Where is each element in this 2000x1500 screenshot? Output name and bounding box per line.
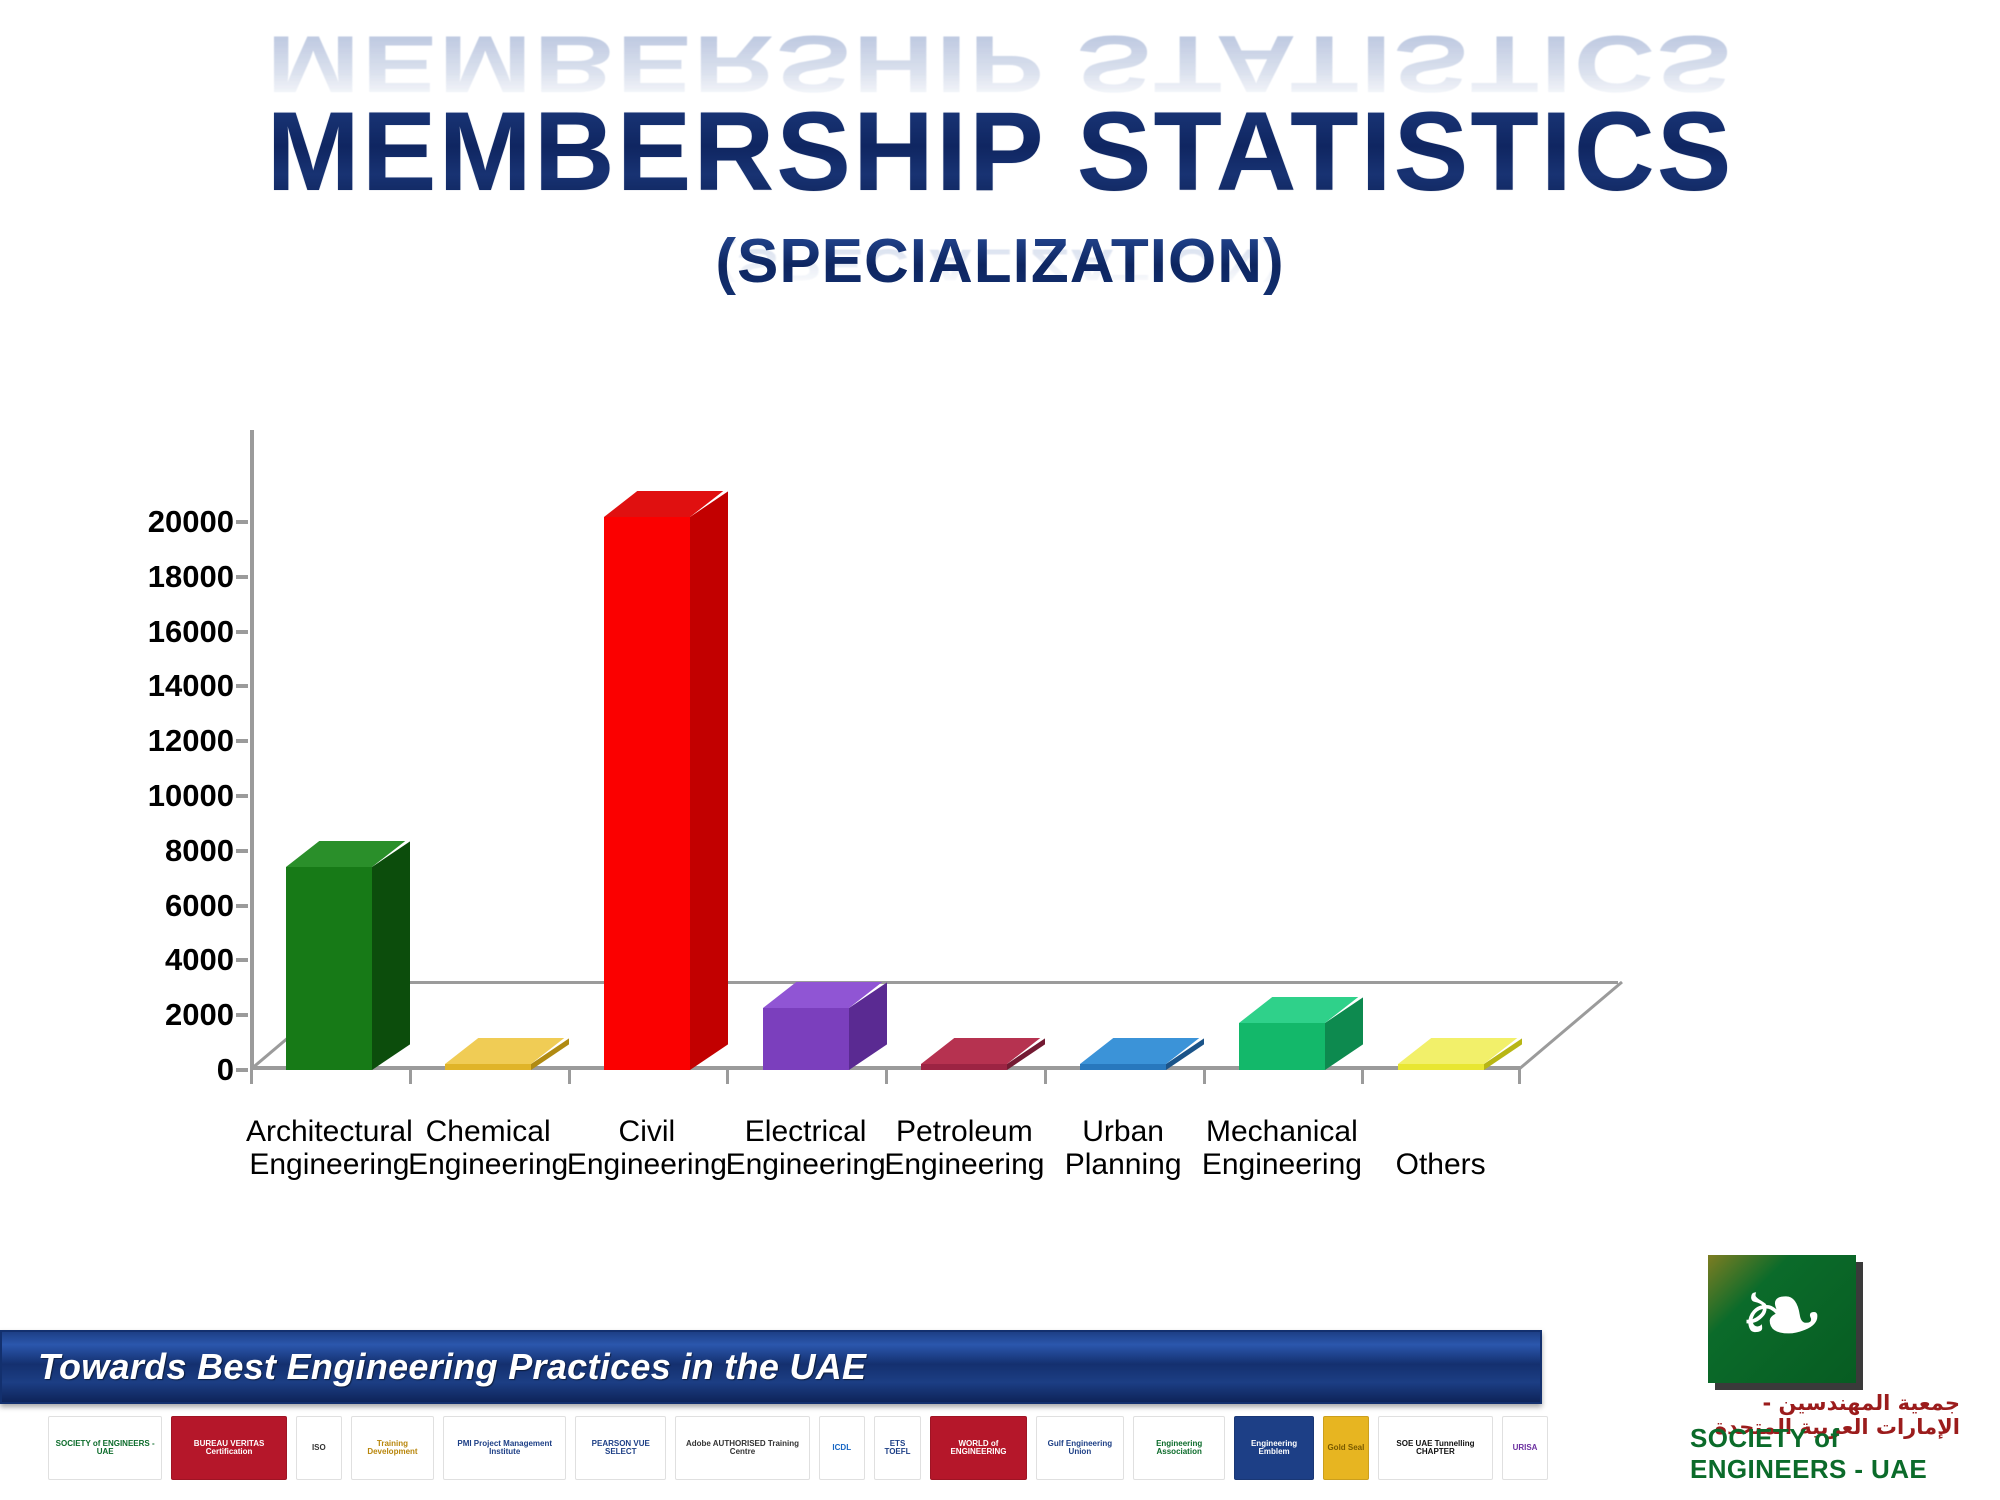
partner-logo-label: Gold Seal xyxy=(1327,1444,1364,1452)
y-tick-label: 16000 xyxy=(122,614,234,650)
soe-name-english: SOCIETY of ENGINEERS - UAE xyxy=(1690,1423,1960,1485)
bar-top-face xyxy=(1398,1038,1517,1064)
partner-logo-blue-emblem: Engineering Emblem xyxy=(1234,1416,1314,1480)
y-tick-mark xyxy=(236,794,248,798)
y-tick-mark xyxy=(236,1013,248,1017)
bar-front-face xyxy=(921,1064,1007,1070)
partner-logo-gulf-engineering-union: Gulf Engineering Union xyxy=(1036,1416,1124,1480)
partner-logo-pmi-rep: PMI Project Management Institute xyxy=(443,1416,566,1480)
soe-logo-mark: ❧ xyxy=(1708,1255,1856,1383)
partner-logo-label: Gulf Engineering Union xyxy=(1040,1440,1120,1457)
title-reflection-text: MEMBERSHIP STATISTICS xyxy=(0,23,2000,104)
page-title-text: MEMBERSHIP STATISTICS xyxy=(267,96,1734,208)
y-axis-line xyxy=(250,430,254,1070)
x-axis-label-line: Mechanical xyxy=(1182,1115,1382,1149)
bar xyxy=(286,867,372,1070)
footer-banner-text: Towards Best Engineering Practices in th… xyxy=(2,1346,866,1388)
bar-front-face xyxy=(286,867,372,1070)
partner-logo-label: SOCIETY of ENGINEERS - UAE xyxy=(52,1440,158,1457)
page-subtitle: (SPECIALIZATION) xyxy=(0,226,2000,297)
partner-logo-label: Adobe AUTHORISED Training Centre xyxy=(679,1440,806,1457)
bar xyxy=(763,1008,849,1070)
footer-banner: Towards Best Engineering Practices in th… xyxy=(0,1330,1542,1404)
bar xyxy=(1398,1064,1484,1070)
partner-logo-label: ISO xyxy=(312,1444,326,1452)
bar-front-face xyxy=(604,517,690,1070)
partner-logo-bureau-veritas: BUREAU VERITAS Certification xyxy=(171,1416,287,1480)
partner-logo-label: Engineering Emblem xyxy=(1238,1440,1310,1457)
y-tick-label: 4000 xyxy=(122,942,234,978)
y-tick-label: 18000 xyxy=(122,559,234,595)
y-tick-label: 2000 xyxy=(122,997,234,1033)
partner-logo-iso-seal: ISO xyxy=(296,1416,342,1480)
y-tick-label: 20000 xyxy=(122,504,234,540)
bar-front-face xyxy=(1398,1064,1484,1070)
partner-logo-label: PMI Project Management Institute xyxy=(447,1440,562,1457)
partner-logo-label: Training Development xyxy=(355,1440,430,1457)
y-tick-label: 6000 xyxy=(122,888,234,924)
axis-floor-back-edge xyxy=(348,981,1618,984)
y-tick-label: 0 xyxy=(122,1052,234,1088)
bar-side-face xyxy=(372,842,410,1070)
bar xyxy=(445,1064,531,1070)
partner-logo-soe-uae: SOCIETY of ENGINEERS - UAE xyxy=(48,1416,162,1480)
y-tick-mark xyxy=(236,575,248,579)
y-tick-label: 12000 xyxy=(122,723,234,759)
partner-logo-training-development: Training Development xyxy=(351,1416,434,1480)
partner-logo-label: URISA xyxy=(1513,1444,1538,1452)
partner-logo-label: BUREAU VERITAS Certification xyxy=(175,1440,283,1457)
x-axis-label: Others xyxy=(1341,1148,1541,1182)
x-tick-mark xyxy=(568,1068,571,1084)
page-subtitle-text: (SPECIALIZATION) xyxy=(715,226,1284,297)
bar xyxy=(921,1064,1007,1070)
partner-logo-label: Engineering Association xyxy=(1137,1440,1221,1457)
x-tick-mark xyxy=(250,1068,253,1084)
bar-top-face xyxy=(921,1038,1040,1064)
membership-bar-chart: 2000018000160001400012000100008000600040… xyxy=(250,430,1780,1070)
bar-front-face xyxy=(763,1008,849,1070)
partner-logo-gold-seal: Gold Seal xyxy=(1323,1416,1369,1480)
partner-logo-label: ICDL xyxy=(832,1444,851,1452)
partner-logo-label: ETS TOEFL xyxy=(878,1440,917,1457)
partner-logo-pearson-vue: PEARSON VUE SELECT xyxy=(575,1416,666,1480)
bar xyxy=(604,517,690,1070)
partner-logo-label: WORLD of ENGINEERING xyxy=(934,1440,1022,1457)
y-tick-mark xyxy=(236,684,248,688)
x-tick-mark xyxy=(409,1068,412,1084)
y-tick-label: 14000 xyxy=(122,668,234,704)
bar-front-face xyxy=(1239,1023,1325,1070)
y-tick-mark xyxy=(236,849,248,853)
soe-swirl-icon: ❧ xyxy=(1738,1263,1825,1367)
bar xyxy=(1239,1023,1325,1070)
partner-logo-urisa: URISA xyxy=(1502,1416,1548,1480)
x-tick-mark xyxy=(1044,1068,1047,1084)
bar-top-face xyxy=(1080,1038,1199,1064)
bar-front-face xyxy=(445,1064,531,1070)
y-tick-mark xyxy=(236,630,248,634)
axis-floor-right-edge xyxy=(1518,980,1626,1070)
x-axis-label-line: Others xyxy=(1341,1148,1541,1182)
partner-logo-strip: SOCIETY of ENGINEERS - UAEBUREAU VERITAS… xyxy=(48,1412,1548,1484)
partner-logo-green-seal: Engineering Association xyxy=(1133,1416,1225,1480)
partner-logo-world-of-engineering: WORLD of ENGINEERING xyxy=(930,1416,1026,1480)
y-tick-mark xyxy=(236,739,248,743)
partner-logo-icdl: ICDL xyxy=(819,1416,865,1480)
x-tick-mark xyxy=(1518,1068,1521,1084)
x-tick-mark xyxy=(1203,1068,1206,1084)
bar-top-face xyxy=(445,1038,564,1064)
x-tick-mark xyxy=(885,1068,888,1084)
bar xyxy=(1080,1064,1166,1070)
page-title: MEMBERSHIP STATISTICS xyxy=(0,96,2000,208)
soe-logo: ❧ جمعية المهندسين - الإمارات العربية الم… xyxy=(1690,1255,1960,1485)
y-tick-label: 8000 xyxy=(122,833,234,869)
partner-logo-label: SOE UAE Tunnelling CHAPTER xyxy=(1382,1440,1489,1457)
y-tick-label: 10000 xyxy=(122,778,234,814)
partner-logo-label: PEARSON VUE SELECT xyxy=(579,1440,662,1457)
y-tick-mark xyxy=(236,520,248,524)
y-tick-mark xyxy=(236,958,248,962)
partner-logo-soe-uae-tunnelling: SOE UAE Tunnelling CHAPTER xyxy=(1378,1416,1493,1480)
partner-logo-adobe-authorised: Adobe AUTHORISED Training Centre xyxy=(675,1416,810,1480)
y-tick-mark xyxy=(236,904,248,908)
bar-front-face xyxy=(1080,1064,1166,1070)
bar-side-face xyxy=(690,491,728,1070)
partner-logo-ets-toefl: ETS TOEFL xyxy=(874,1416,921,1480)
x-tick-mark xyxy=(1361,1068,1364,1084)
x-tick-mark xyxy=(726,1068,729,1084)
y-tick-mark xyxy=(236,1068,248,1072)
